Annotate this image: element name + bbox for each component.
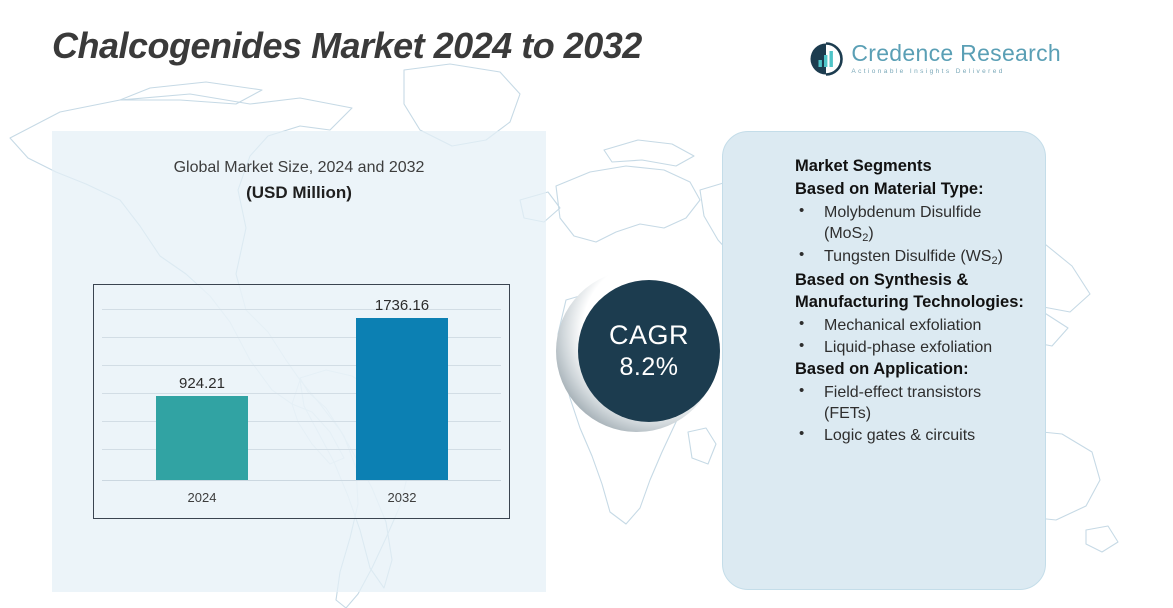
- brand-text: Credence Research Actionable Insights De…: [851, 42, 1061, 76]
- segment-heading-2: Based on Application:: [795, 359, 1031, 381]
- bullet-icon: •: [799, 336, 804, 356]
- axis-label-2024: 2024: [130, 490, 274, 505]
- brand-logo: Credence Research Actionable Insights De…: [809, 42, 1061, 76]
- segment-item: •Tungsten Disulfide (WS2): [795, 246, 1031, 269]
- bullet-icon: •: [799, 201, 804, 221]
- bullet-icon: •: [799, 424, 804, 444]
- segment-item-label: Liquid-phase exfoliation: [824, 339, 992, 356]
- page-title: Chalcogenides Market 2024 to 2032: [52, 25, 642, 67]
- cagr-value: 8.2%: [620, 353, 679, 382]
- chart-subtitle: (USD Million): [52, 183, 546, 203]
- segment-item: •Molybdenum Disulfide (MoS2): [795, 202, 1031, 246]
- segment-item-label: Logic gates & circuits: [824, 427, 975, 444]
- market-segments-panel: Market Segments Based on Material Type:•…: [722, 131, 1046, 590]
- segment-heading-0: Based on Material Type:: [795, 179, 1031, 201]
- segment-item: •Liquid-phase exfoliation: [795, 337, 1031, 358]
- segment-item-label: Field-effect transistors (FETs): [824, 384, 981, 422]
- segment-item-label: Mechanical exfoliation: [824, 317, 981, 334]
- infographic-canvas: Chalcogenides Market 2024 to 2032 Creden…: [0, 0, 1173, 608]
- brand-name: Credence Research: [851, 42, 1061, 65]
- bar-value-2024: 924.21: [130, 375, 274, 392]
- bullet-icon: •: [799, 245, 804, 265]
- bar-group-2032: 1736.16 2032: [356, 318, 448, 480]
- segment-list-0: •Molybdenum Disulfide (MoS2)•Tungsten Di…: [795, 202, 1031, 270]
- segment-item: •Field-effect transistors (FETs): [795, 382, 1031, 425]
- bar-2024: [156, 396, 248, 480]
- cagr-label: CAGR: [609, 320, 689, 351]
- market-size-chart-panel: Global Market Size, 2024 and 2032 (USD M…: [52, 131, 546, 592]
- segment-heading-1: Based on Synthesis & Manufacturing Techn…: [795, 270, 1031, 314]
- segment-list-2: •Field-effect transistors (FETs)•Logic g…: [795, 382, 1031, 447]
- segment-item-label: Molybdenum Disulfide (MoS: [824, 204, 981, 242]
- chart-plot-area: 924.21 2024 1736.16 2032: [93, 284, 510, 519]
- bars-area: 924.21 2024 1736.16 2032: [94, 285, 509, 518]
- segment-item: •Logic gates & circuits: [795, 425, 1031, 446]
- chart-title: Global Market Size, 2024 and 2032: [52, 159, 546, 177]
- segment-list-1: •Mechanical exfoliation•Liquid-phase exf…: [795, 315, 1031, 359]
- bar-value-2032: 1736.16: [330, 297, 474, 314]
- cagr-circle: CAGR 8.2%: [578, 280, 720, 422]
- segment-item-tail: ): [998, 248, 1003, 265]
- bar-group-2024: 924.21 2024: [156, 396, 248, 480]
- bullet-icon: •: [799, 381, 804, 401]
- brand-tagline: Actionable Insights Delivered: [851, 69, 1061, 76]
- segment-item-tail: ): [868, 225, 873, 242]
- segments-body: Based on Material Type:•Molybdenum Disul…: [795, 179, 1031, 447]
- segment-item: •Mechanical exfoliation: [795, 315, 1031, 336]
- bar-2032: [356, 318, 448, 480]
- segment-item-label: Tungsten Disulfide (WS: [824, 248, 991, 265]
- axis-label-2032: 2032: [330, 490, 474, 505]
- segments-title: Market Segments: [795, 156, 1031, 178]
- cagr-badge: CAGR 8.2%: [556, 286, 732, 416]
- bar-chart-circle-icon: [809, 42, 843, 76]
- bullet-icon: •: [799, 314, 804, 334]
